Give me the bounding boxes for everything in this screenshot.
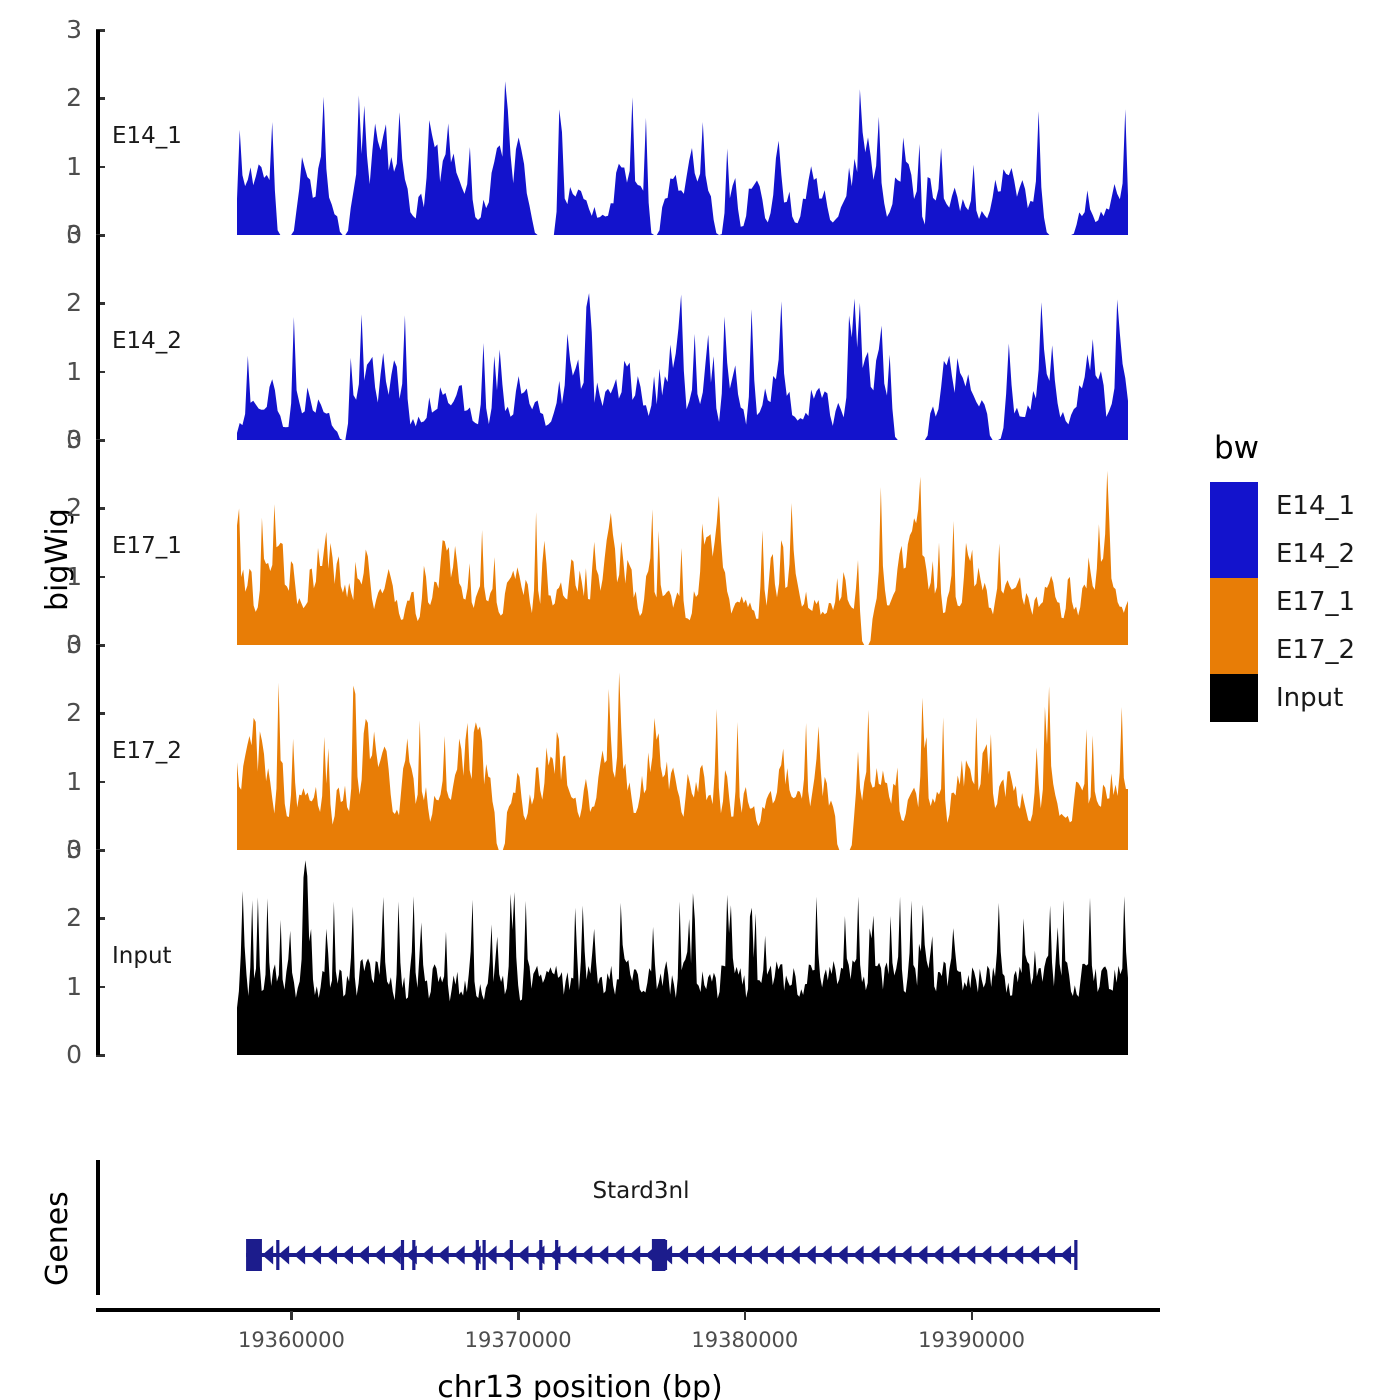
legend-item-label: E14_2 [1276, 539, 1355, 569]
strand-arrow-icon [533, 1246, 544, 1265]
strand-arrow-icon [885, 1246, 896, 1265]
track-label-e17_1: E17_1 [112, 533, 182, 559]
signal-path [237, 293, 1128, 440]
strand-arrow-icon [581, 1246, 592, 1265]
strand-arrow-icon [518, 1246, 529, 1265]
genes-panel: Stard3nl [0, 1160, 1160, 1295]
y-axis-line [96, 30, 100, 235]
strand-arrow-icon [789, 1246, 800, 1265]
legend-color-swatch [1210, 578, 1258, 626]
strand-arrow-icon [709, 1246, 720, 1265]
exon-block [246, 1239, 262, 1271]
y-tick-label: 3 [48, 837, 82, 862]
strand-arrow-icon [900, 1246, 911, 1265]
strand-arrow-icon [358, 1246, 369, 1265]
strand-arrow-icon [821, 1246, 832, 1265]
strand-arrow-icon [1012, 1246, 1023, 1265]
strand-arrow-icon [549, 1246, 560, 1265]
track-panel-input [0, 850, 1160, 1055]
strand-arrow-icon [837, 1246, 848, 1265]
y-tick-label: 1 [48, 564, 82, 589]
exon-boundary-tick [1074, 1240, 1077, 1270]
y-axis-line [96, 645, 100, 850]
signal-path [237, 81, 1128, 235]
exon-boundary-tick [539, 1240, 542, 1270]
y-tick-label: 3 [48, 427, 82, 452]
strand-arrow-icon [597, 1246, 608, 1265]
y-tick-label: 1 [48, 974, 82, 999]
legend-title: bw [1214, 430, 1355, 466]
y-tick-label: 3 [48, 17, 82, 42]
strand-arrow-icon [948, 1246, 959, 1265]
y-axis-line [96, 235, 100, 440]
strand-arrow-icon [693, 1246, 704, 1265]
signal-area-input [0, 850, 1160, 1055]
exon-boundary-tick [276, 1240, 279, 1270]
x-tick-label: 19360000 [211, 1328, 371, 1352]
strand-arrow-icon [853, 1246, 864, 1265]
strand-arrow-icon [565, 1246, 576, 1265]
x-tick-mark [290, 1311, 293, 1320]
gene-name-label: Stard3nl [593, 1178, 690, 1204]
legend-item-label: Input [1276, 683, 1343, 713]
strand-arrow-icon [869, 1246, 880, 1265]
gene-model[interactable]: Stard3nl [0, 1160, 1160, 1295]
strand-arrow-icon [725, 1246, 736, 1265]
legend-color-swatch [1210, 626, 1258, 674]
exon-boundary-tick [555, 1240, 558, 1270]
y-tick-label: 0 [48, 1042, 82, 1067]
legend-item-input[interactable]: Input [1210, 674, 1355, 722]
strand-arrow-icon [741, 1246, 752, 1265]
x-tick-label: 19390000 [892, 1328, 1052, 1352]
y-tick-label: 3 [48, 222, 82, 247]
track-label-e14_1: E14_1 [112, 123, 182, 149]
legend-color-swatch [1210, 530, 1258, 578]
y-tick-label: 3 [48, 632, 82, 657]
strand-arrow-icon [613, 1246, 624, 1265]
x-axis-title: chr13 position (bp) [0, 1370, 1160, 1400]
strand-arrow-icon [390, 1246, 401, 1265]
y-axis-line [96, 440, 100, 645]
y-tick-label: 2 [48, 290, 82, 315]
strand-arrow-icon [326, 1246, 337, 1265]
strand-arrow-icon [932, 1246, 943, 1265]
signal-path [237, 860, 1128, 1055]
strand-arrow-icon [486, 1246, 497, 1265]
genome-browser-figure: bigWig Genes Stard3nl 193600001937000019… [0, 0, 1400, 1400]
strand-arrow-icon [374, 1246, 385, 1265]
legend-item-e17_1[interactable]: E17_1 [1210, 578, 1355, 626]
y-tick-label: 1 [48, 154, 82, 179]
x-tick-label: 19370000 [438, 1328, 598, 1352]
strand-arrow-icon [470, 1246, 481, 1265]
strand-arrow-icon [342, 1246, 353, 1265]
strand-arrow-icon [1060, 1246, 1071, 1265]
legend-item-e17_2[interactable]: E17_2 [1210, 626, 1355, 674]
track-label-input: Input [112, 943, 172, 969]
exon-boundary-tick [401, 1240, 404, 1270]
strand-arrow-icon [996, 1246, 1007, 1265]
legend-color-swatch [1210, 482, 1258, 530]
x-axis-line [96, 1308, 1160, 1312]
strand-arrow-icon [1044, 1246, 1055, 1265]
legend-item-e14_1[interactable]: E14_1 [1210, 482, 1355, 530]
exon-block [652, 1239, 666, 1271]
strand-arrow-icon [1028, 1246, 1039, 1265]
strand-arrow-icon [438, 1246, 449, 1265]
strand-arrow-icon [294, 1246, 305, 1265]
legend-color-swatch [1210, 674, 1258, 722]
x-axis: 19360000193700001938000019390000 [0, 1308, 1160, 1378]
exon-boundary-tick [412, 1240, 415, 1270]
strand-arrow-icon [310, 1246, 321, 1265]
x-tick-mark [744, 1311, 747, 1320]
legend-item-label: E14_1 [1276, 491, 1355, 521]
strand-arrow-icon [757, 1246, 768, 1265]
x-tick-label: 19380000 [665, 1328, 825, 1352]
y-axis-line [96, 850, 100, 1055]
y-tick-label: 2 [48, 85, 82, 110]
track-label-e17_2: E17_2 [112, 738, 182, 764]
legend-item-label: E17_1 [1276, 587, 1355, 617]
strand-arrow-icon [916, 1246, 927, 1265]
x-tick-mark [971, 1311, 974, 1320]
strand-arrow-icon [773, 1246, 784, 1265]
legend-item-label: E17_2 [1276, 635, 1355, 665]
strand-arrow-icon [980, 1246, 991, 1265]
exon-boundary-tick [510, 1240, 513, 1270]
strand-arrow-icon [805, 1246, 816, 1265]
strand-arrow-icon [454, 1246, 465, 1265]
x-tick-mark [517, 1311, 520, 1320]
exon-boundary-tick [476, 1240, 479, 1270]
strand-arrow-icon [278, 1246, 289, 1265]
exon-boundary-tick [483, 1240, 486, 1270]
strand-arrow-icon [262, 1246, 273, 1265]
legend-item-e14_2[interactable]: E14_2 [1210, 530, 1355, 578]
y-tick-label: 2 [48, 495, 82, 520]
track-label-e14_2: E14_2 [112, 328, 182, 354]
strand-arrow-icon [964, 1246, 975, 1265]
y-tick-label: 2 [48, 700, 82, 725]
signal-path [237, 471, 1128, 645]
y-tick-label: 1 [48, 769, 82, 794]
strand-arrow-icon [629, 1246, 640, 1265]
y-tick-label: 2 [48, 905, 82, 930]
strand-arrow-icon [677, 1246, 688, 1265]
strand-arrow-icon [422, 1246, 433, 1265]
signal-path [237, 672, 1128, 850]
legend: bw E14_1E14_2E17_1E17_2Input [1210, 430, 1355, 722]
y-tick-label: 1 [48, 359, 82, 384]
